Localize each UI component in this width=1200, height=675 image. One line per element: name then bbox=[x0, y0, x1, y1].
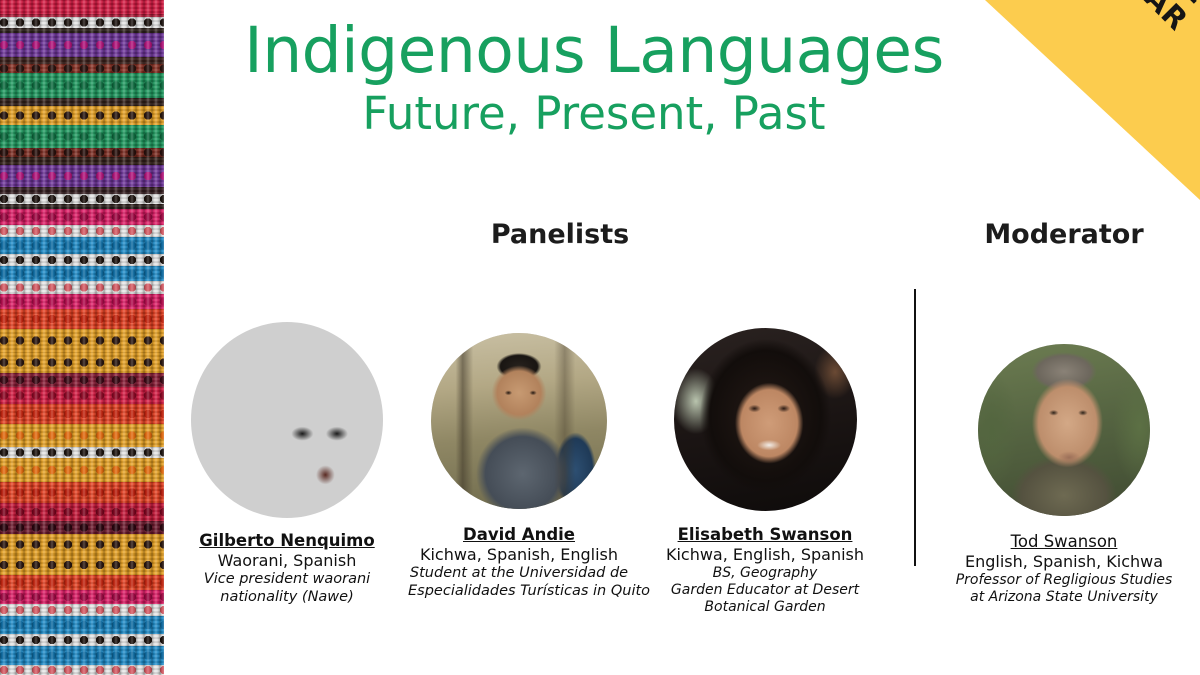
textile-band-pattern bbox=[0, 194, 164, 204]
avatar bbox=[191, 322, 383, 518]
portrait-tod-swanson-image bbox=[978, 344, 1150, 516]
textile-band bbox=[0, 106, 164, 125]
moderator-card-tod-swanson: Tod Swanson English, Spanish, Kichwa Pro… bbox=[944, 344, 1184, 606]
textile-band bbox=[0, 521, 164, 535]
textile-band-pattern bbox=[0, 33, 164, 57]
textile-band bbox=[0, 424, 164, 447]
textile-band bbox=[0, 634, 164, 646]
moderator-role: Professor of Regligious Studies at Arizo… bbox=[944, 572, 1184, 606]
textile-band bbox=[0, 33, 164, 57]
textile-band-pattern bbox=[0, 387, 164, 404]
textile-band-pattern bbox=[0, 209, 164, 225]
textile-band bbox=[0, 458, 164, 481]
panelist-caption: Elisabeth Swanson Kichwa, English, Spani… bbox=[650, 525, 880, 616]
moderator-name: Tod Swanson bbox=[944, 532, 1184, 551]
panelist-role-line: Garden Educator at Desert bbox=[650, 582, 880, 599]
textile-band bbox=[0, 187, 164, 194]
textile-band-pattern bbox=[0, 225, 164, 238]
textile-band bbox=[0, 373, 164, 387]
textile-band-pattern bbox=[0, 521, 164, 535]
webinar-announcement-slide: JOIN THE WEBINAR Indigenous Languages Fu… bbox=[0, 0, 1200, 675]
panelists-heading: Panelists bbox=[380, 219, 740, 250]
textile-band bbox=[0, 194, 164, 204]
textile-band bbox=[0, 482, 164, 503]
avatar bbox=[674, 328, 857, 511]
textile-band-pattern bbox=[0, 254, 164, 266]
textile-band bbox=[0, 665, 164, 675]
textile-band bbox=[0, 209, 164, 225]
textile-band-pattern bbox=[0, 447, 164, 459]
panelist-role: Vice president waorani nationality (Nawe… bbox=[172, 571, 402, 606]
panelist-role-line: nationality (Nawe) bbox=[172, 589, 402, 607]
textile-band bbox=[0, 225, 164, 238]
moderator-role-line: at Arizona State University bbox=[944, 589, 1184, 606]
page-title: Indigenous Languages bbox=[164, 18, 1024, 84]
panelist-role: Student at the Universidad de Especialid… bbox=[408, 565, 630, 600]
textile-band bbox=[0, 125, 164, 148]
textile-band-pattern bbox=[0, 534, 164, 555]
textile-band-pattern bbox=[0, 17, 164, 28]
textile-band bbox=[0, 352, 164, 373]
panelist-role-line: BS, Geography bbox=[650, 565, 880, 582]
textile-band-pattern bbox=[0, 73, 164, 98]
textile-band bbox=[0, 387, 164, 404]
textile-band bbox=[0, 447, 164, 459]
panelist-card-david-andie: David Andie Kichwa, Spanish, English Stu… bbox=[408, 333, 630, 600]
textile-band-pattern bbox=[0, 329, 164, 352]
moderator-heading: Moderator bbox=[930, 219, 1198, 250]
page-subtitle: Future, Present, Past bbox=[164, 88, 1024, 140]
textile-band bbox=[0, 0, 164, 14]
portrait-gilberto-nenquimo-image bbox=[191, 322, 383, 518]
textile-band-pattern bbox=[0, 373, 164, 387]
panelist-role-line: Student at the Universidad de bbox=[408, 565, 630, 583]
textile-band-pattern bbox=[0, 266, 164, 282]
textile-band bbox=[0, 616, 164, 633]
textile-band-pattern bbox=[0, 404, 164, 423]
textile-band bbox=[0, 157, 164, 165]
panelist-role-line: Especialidades Turísticas in Quito bbox=[408, 583, 630, 601]
textile-band bbox=[0, 646, 164, 665]
textile-band bbox=[0, 254, 164, 266]
textile-band-pattern bbox=[0, 634, 164, 646]
textile-band bbox=[0, 266, 164, 282]
textile-band bbox=[0, 73, 164, 98]
textile-band bbox=[0, 604, 164, 617]
textile-band bbox=[0, 57, 164, 64]
portrait-elisabeth-swanson-image bbox=[674, 328, 857, 511]
avatar bbox=[978, 344, 1150, 516]
textile-band bbox=[0, 503, 164, 520]
section-divider bbox=[914, 289, 916, 566]
textile-band-pattern bbox=[0, 281, 164, 294]
panelist-role: BS, Geography Garden Educator at Desert … bbox=[650, 565, 880, 616]
textile-band-pattern bbox=[0, 309, 164, 328]
title-block: Indigenous Languages Future, Present, Pa… bbox=[164, 18, 1024, 139]
textile-band bbox=[0, 281, 164, 294]
textile-band-pattern bbox=[0, 458, 164, 481]
textile-band-pattern bbox=[0, 555, 164, 574]
textile-band bbox=[0, 534, 164, 555]
avatar bbox=[431, 333, 607, 509]
panelist-role-line: Botanical Garden bbox=[650, 599, 880, 616]
panelist-role-line: Vice president waorani bbox=[172, 571, 402, 589]
textile-band-pattern bbox=[0, 616, 164, 633]
textile-band bbox=[0, 148, 164, 157]
panelist-languages: Waorani, Spanish bbox=[172, 551, 402, 570]
textile-band bbox=[0, 555, 164, 574]
panelist-caption: Gilberto Nenquimo Waorani, Spanish Vice … bbox=[172, 531, 402, 606]
panelist-name: Elisabeth Swanson bbox=[650, 525, 880, 544]
textile-band-pattern bbox=[0, 125, 164, 148]
textile-band bbox=[0, 329, 164, 352]
textile-band-pattern bbox=[0, 482, 164, 503]
textile-band-pattern bbox=[0, 424, 164, 447]
textile-band-pattern bbox=[0, 604, 164, 617]
moderator-caption: Tod Swanson English, Spanish, Kichwa Pro… bbox=[944, 532, 1184, 606]
textile-band bbox=[0, 590, 164, 604]
textile-band-pattern bbox=[0, 106, 164, 125]
panelist-card-elisabeth-swanson: Elisabeth Swanson Kichwa, English, Spani… bbox=[650, 328, 880, 616]
woven-textile-border bbox=[0, 0, 164, 675]
textile-band-pattern bbox=[0, 665, 164, 675]
textile-band-pattern bbox=[0, 352, 164, 373]
textile-band bbox=[0, 98, 164, 106]
panelist-caption: David Andie Kichwa, Spanish, English Stu… bbox=[408, 525, 630, 600]
textile-band-pattern bbox=[0, 590, 164, 604]
textile-band-pattern bbox=[0, 237, 164, 253]
textile-band bbox=[0, 64, 164, 73]
textile-band bbox=[0, 309, 164, 328]
textile-band-pattern bbox=[0, 646, 164, 665]
panelist-name: David Andie bbox=[408, 525, 630, 544]
textile-band-pattern bbox=[0, 294, 164, 310]
textile-band bbox=[0, 404, 164, 423]
panelist-card-gilberto-nenquimo: Gilberto Nenquimo Waorani, Spanish Vice … bbox=[172, 322, 402, 606]
panelist-name: Gilberto Nenquimo bbox=[172, 531, 402, 550]
textile-band-pattern bbox=[0, 148, 164, 157]
panelist-languages: Kichwa, Spanish, English bbox=[408, 545, 630, 564]
textile-band bbox=[0, 237, 164, 253]
moderator-languages: English, Spanish, Kichwa bbox=[944, 552, 1184, 571]
textile-band bbox=[0, 165, 164, 187]
moderator-role-line: Professor of Regligious Studies bbox=[944, 572, 1184, 589]
textile-band-pattern bbox=[0, 575, 164, 591]
textile-band bbox=[0, 17, 164, 28]
textile-band bbox=[0, 575, 164, 591]
panelist-languages: Kichwa, English, Spanish bbox=[650, 545, 880, 564]
textile-band bbox=[0, 294, 164, 310]
textile-band-pattern bbox=[0, 503, 164, 520]
textile-band-pattern bbox=[0, 165, 164, 187]
portrait-david-andie-image bbox=[431, 333, 607, 509]
textile-band-pattern bbox=[0, 64, 164, 73]
